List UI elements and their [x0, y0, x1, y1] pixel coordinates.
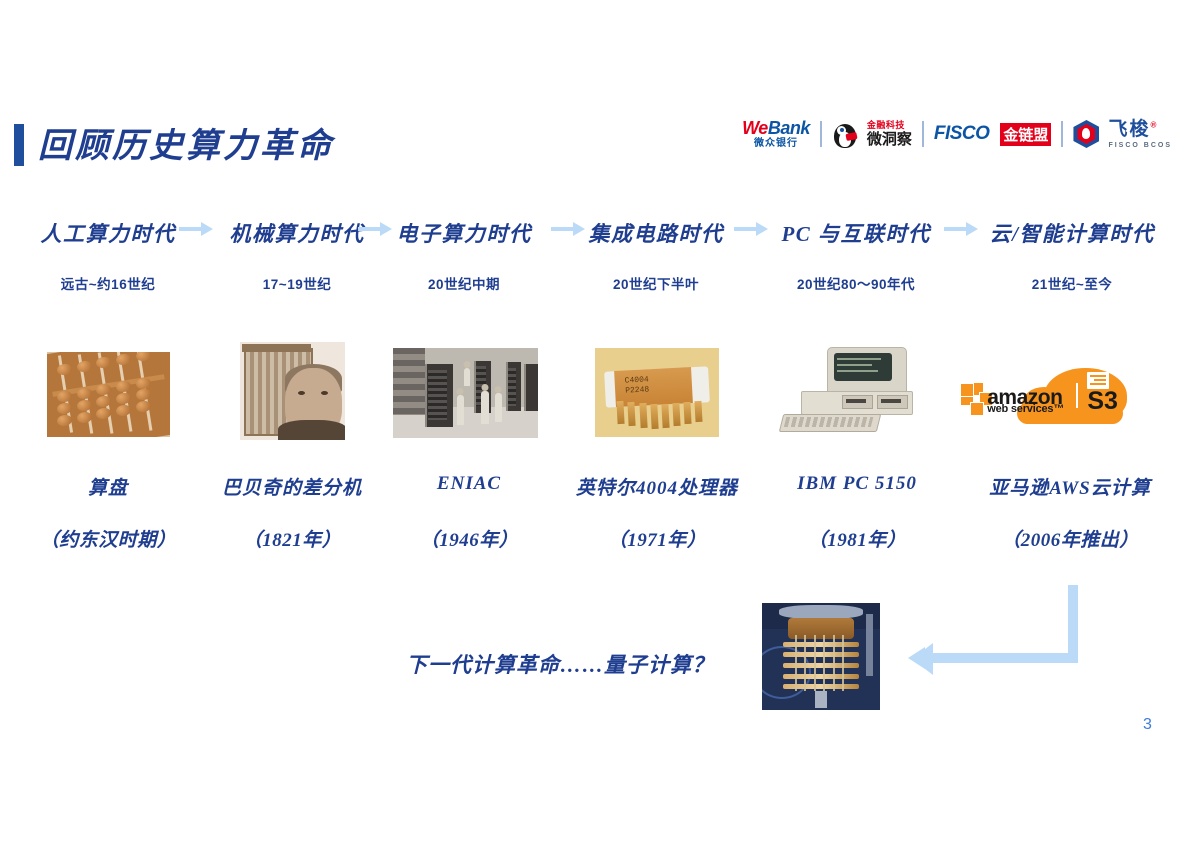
era-date-4: 20世纪80～90年代 [797, 273, 915, 293]
era-date-2: 20世纪中期 [428, 273, 500, 293]
webank-logo-we: We [742, 118, 768, 138]
era-date-5: 21世纪~至今 [1032, 273, 1112, 293]
fisco-logo-cn: 金链盟 [1000, 123, 1051, 146]
fisco-bcos-logo-en: FISCO BCOS [1108, 142, 1172, 149]
page-title: 回顾历史算力革命 [38, 118, 334, 167]
item-name-0: 算盘 [88, 473, 128, 500]
eniac-photo [393, 348, 538, 438]
logo-bar: WeBank 微众银行 金融科技 微洞察 FISCO 金链盟 飞梭® [742, 113, 1172, 155]
logo-divider [820, 121, 822, 147]
webank-logo-cn: 微众银行 [754, 139, 798, 149]
item-name-5: 亚马逊AWS云计算 [989, 473, 1150, 500]
era-title-5: 云/智能计算时代 [990, 218, 1155, 248]
fisco-logo: FISCO 金链盟 [934, 123, 1052, 146]
weidongcha-logo: 金融科技 微洞察 [832, 120, 912, 148]
era-arrow-icon-3 [734, 222, 768, 236]
item-year-5: （2006年推出） [1001, 525, 1139, 552]
item-name-4: IBM PC 5150 [797, 473, 917, 495]
elbow-arrow-icon [900, 585, 1090, 685]
webank-logo-text: WeBank 微众银行 [742, 119, 810, 149]
era-title-4: PC 与互联时代 [781, 218, 930, 248]
title-accent-bar [14, 124, 24, 166]
webank-logo-bank: Bank [768, 118, 810, 138]
weidongcha-logo-text: 金融科技 微洞察 [867, 121, 912, 147]
era-date-1: 17~19世纪 [263, 273, 331, 293]
item-year-3: （1971年） [608, 525, 707, 552]
fisco-bcos-logo-text: 飞梭® FISCO BCOS [1108, 120, 1172, 149]
fisco-logo-en: FISCO [934, 123, 990, 145]
era-arrow-icon-2 [551, 222, 585, 236]
quantum-computer-photo [762, 603, 880, 710]
item-year-0: （约东汉时期） [40, 525, 177, 552]
era-date-3: 20世纪下半叶 [613, 273, 699, 293]
era-title-0: 人工算力时代 [41, 218, 176, 248]
item-name-3: 英特尔4004处理器 [576, 473, 738, 500]
fisco-bcos-logo-cn: 飞梭® [1108, 120, 1172, 139]
babbage-difference-engine-photo [240, 342, 345, 440]
registered-mark-icon: ® [1150, 120, 1158, 129]
weidongcha-logo-main: 微洞察 [867, 132, 912, 147]
era-arrow-icon-4 [944, 222, 978, 236]
era-arrow-icon-0 [179, 222, 213, 236]
era-arrow-icon-1 [358, 222, 392, 236]
amazon-aws-s3-logo: S3 amazon web services™ [958, 362, 1130, 432]
intel-4004-chip-photo: C4004P2248 [595, 348, 719, 437]
era-title-2: 电子算力时代 [397, 218, 532, 248]
next-generation-text: 下一代计算革命……量子计算？ [406, 649, 714, 679]
penguin-icon [832, 120, 858, 148]
fisco-bcos-logo: 飞梭® FISCO BCOS [1073, 120, 1172, 149]
abacus-photo [47, 352, 170, 437]
item-year-4: （1981年） [808, 525, 907, 552]
item-name-1: 巴贝奇的差分机 [222, 473, 362, 500]
ibm-pc-5150-photo [775, 345, 920, 440]
era-title-1: 机械算力时代 [230, 218, 365, 248]
page-number: 3 [1143, 716, 1152, 734]
fisco-bcos-cn-text: 飞梭 [1108, 119, 1150, 140]
logo-divider [1061, 121, 1063, 147]
era-title-3: 集成电路时代 [589, 218, 724, 248]
weidongcha-logo-top: 金融科技 [867, 121, 912, 130]
logo-divider [922, 121, 924, 147]
item-year-1: （1821年） [243, 525, 342, 552]
item-year-2: （1946年） [420, 525, 519, 552]
hexagon-shield-icon [1073, 120, 1099, 148]
era-date-0: 远古~约16世纪 [61, 273, 155, 293]
webank-logo: WeBank 微众银行 [742, 119, 810, 149]
item-name-2: ENIAC [437, 473, 501, 495]
webank-logo-en: WeBank [742, 119, 810, 137]
